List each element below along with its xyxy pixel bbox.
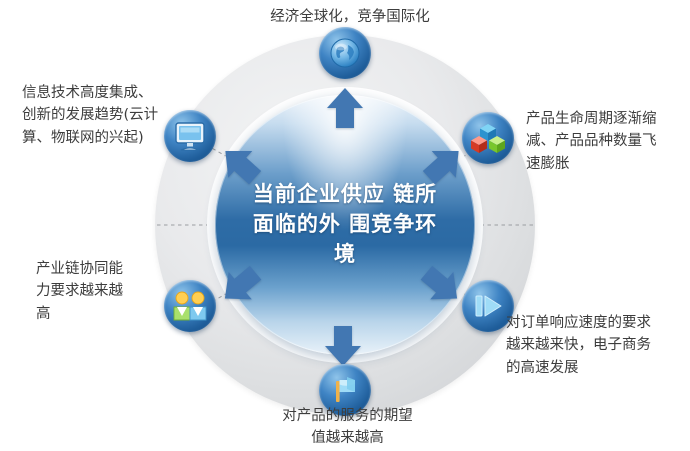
arrow-bottom-left bbox=[214, 258, 268, 312]
arrow-top bbox=[318, 82, 372, 136]
arrow-top-left bbox=[214, 138, 268, 192]
cubes-icon[interactable] bbox=[462, 112, 514, 164]
arrow-bottom-right bbox=[414, 258, 468, 312]
label-bottom-right: 对订单响应速度的要求 越来越来快，电子商务 的高速发展 bbox=[506, 312, 684, 379]
center-label: 当前企业供应 链所面临的外 围竞争环境 bbox=[250, 180, 440, 269]
label-top: 经济全球化，竞争国际化 bbox=[235, 6, 465, 28]
label-top-right: 产品生命周期逐渐缩 减、产品品种数量飞 速膨胀 bbox=[526, 108, 688, 175]
label-top-left: 信息技术高度集成、 创新的发展趋势(云计 算、物联网的兴起) bbox=[22, 82, 212, 149]
globe-icon[interactable] bbox=[319, 27, 371, 79]
arrow-top-right bbox=[416, 138, 470, 192]
label-bottom: 对产品的服务的期望 值越来越高 bbox=[240, 405, 455, 450]
label-bottom-left: 产业链协同能 力要求越来越 高 bbox=[36, 258, 186, 325]
diagram-canvas: 当前企业供应 链所面临的外 围竞争环境 bbox=[0, 0, 690, 451]
